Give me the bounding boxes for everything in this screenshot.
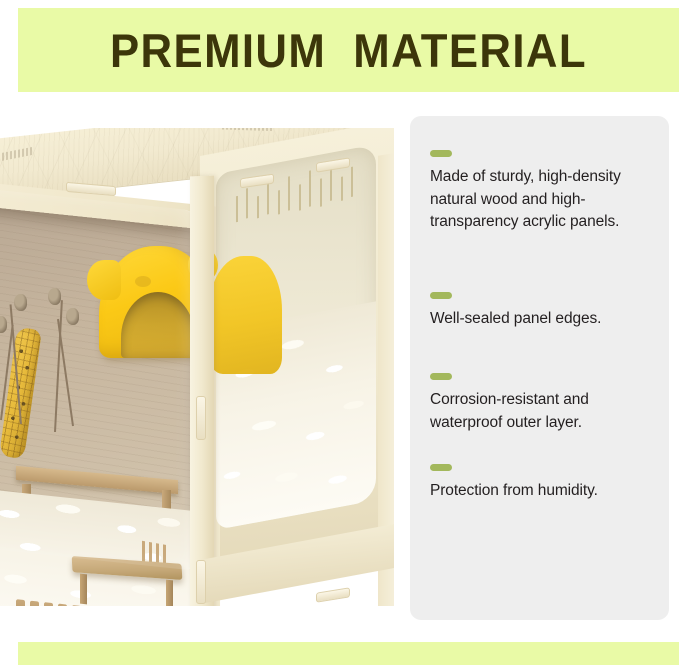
footer-band	[18, 642, 679, 665]
cage-corner-post	[190, 176, 214, 606]
feature-item-4: Protection from humidity.	[430, 464, 652, 503]
feature-item-2: Well-sealed panel edges.	[430, 292, 652, 331]
feature-item-1: Made of sturdy, high-density natural woo…	[430, 150, 652, 234]
dash-icon	[430, 292, 452, 299]
features-panel: Made of sturdy, high-density natural woo…	[410, 116, 669, 620]
infographic-root: PREMIUM MATERIAL	[0, 0, 679, 665]
feature-text-3: Corrosion-resistant and waterproof outer…	[430, 389, 652, 434]
yellow-hideout-rear	[208, 256, 282, 374]
hideout-entrance	[121, 292, 195, 358]
dash-icon	[430, 150, 452, 157]
table-leg	[80, 574, 87, 605]
dash-icon	[430, 373, 452, 380]
dash-icon	[430, 464, 452, 471]
hanging-pegs	[234, 161, 364, 231]
feature-text-2: Well-sealed panel edges.	[430, 308, 652, 331]
latch-tab	[196, 560, 206, 604]
product-image	[0, 128, 394, 606]
feature-text-1: Made of sturdy, high-density natural woo…	[430, 166, 652, 234]
page-title: PREMIUM MATERIAL	[41, 8, 656, 92]
header-band: PREMIUM MATERIAL	[18, 8, 679, 92]
hideout-detail	[135, 276, 151, 287]
hideout-ear-left	[87, 260, 121, 300]
table-leg	[166, 580, 173, 606]
latch-tab	[196, 396, 206, 440]
feature-text-4: Protection from humidity.	[430, 480, 652, 503]
feature-item-3: Corrosion-resistant and waterproof outer…	[430, 373, 652, 434]
